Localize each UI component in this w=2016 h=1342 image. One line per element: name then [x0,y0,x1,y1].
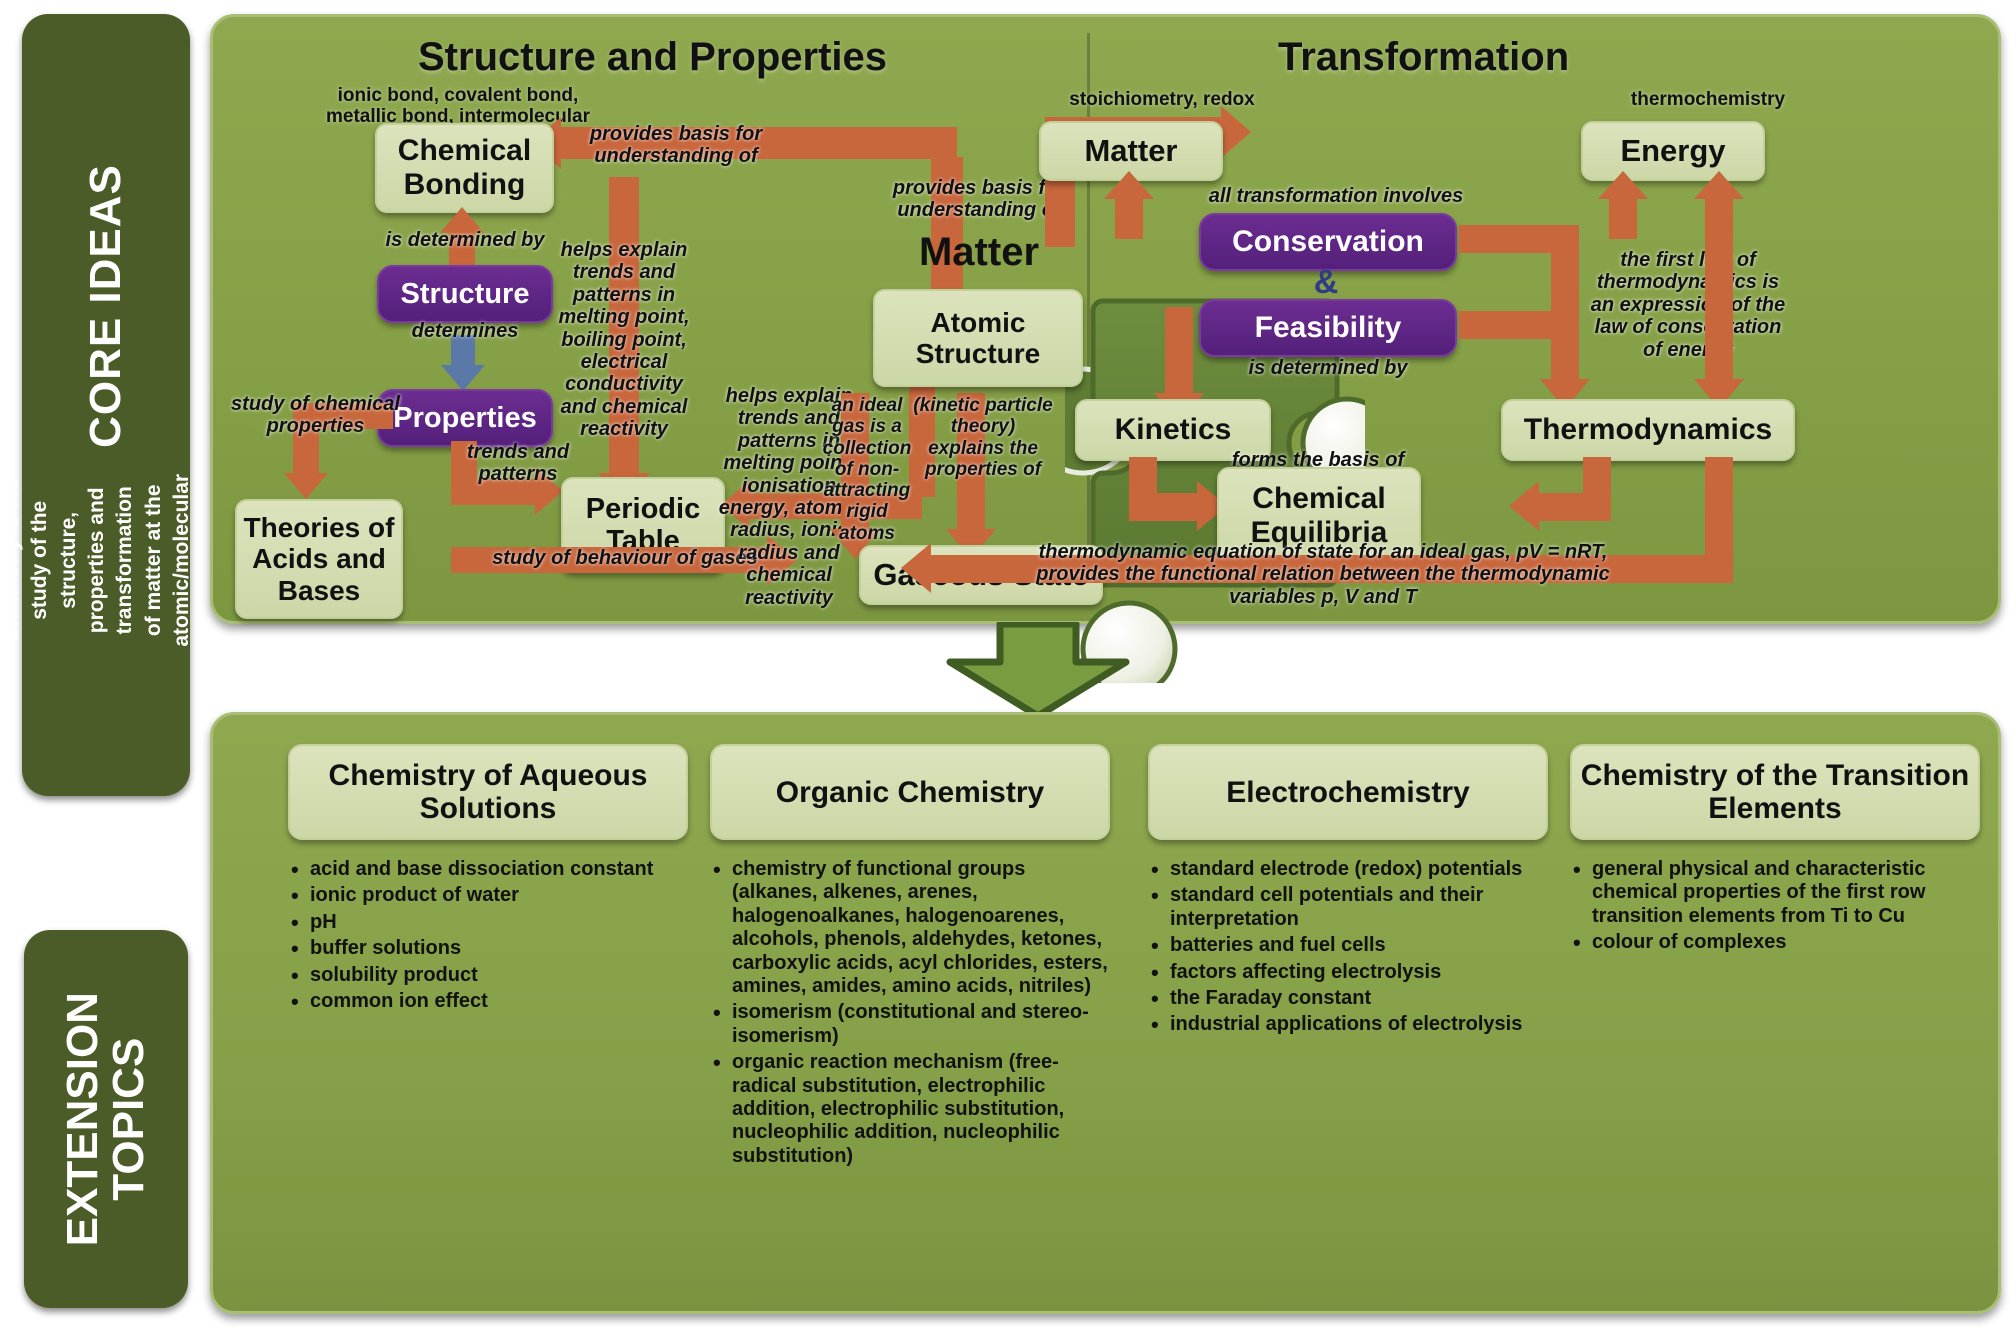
extension-topics-title-line2: TOPICS [104,1038,153,1201]
extension-column-title[interactable]: Electrochemistry [1148,744,1548,840]
arrow-thermo-eq-state-down [1705,457,1733,555]
extension-item-list: general physical and characteristic chem… [1570,858,1980,955]
section-title-structure-properties: Structure and Properties [418,35,887,80]
list-item: buffer solutions [288,937,688,960]
edge-label-ideal-gas: an ideal gas is a collection of non-attr… [817,395,917,544]
node-thermodynamics[interactable]: Thermodynamics [1501,399,1795,461]
arrow-thermo-eq-state-head [901,543,931,593]
extension-column-title[interactable]: Chemistry of Aqueous Solutions [288,744,688,840]
list-item: factors affecting electrolysis [1148,961,1548,984]
extension-column-transition-elements: Chemistry of the Transition Elements gen… [1570,744,1980,958]
extension-column-electrochemistry: Electrochemistry standard electrode (red… [1148,744,1548,1040]
edge-label-is-determined-by-feasibility: is determined by [1203,357,1453,379]
edge-label-study-of-chemical-properties: study of chemical properties [208,393,423,438]
arrow-to-energy-up-left-shaft [1609,197,1637,239]
list-item: the Faraday constant [1148,987,1548,1010]
edge-label-thermodynamic-equation: thermodynamic equation of state for an i… [1023,541,1623,608]
extension-column-aqueous-solutions: Chemistry of Aqueous Solutions acid and … [288,744,688,1016]
arrow-to-kinetics-shaft [1165,307,1193,397]
node-theories-of-acids-and-bases[interactable]: Theories of Acids and Bases [235,499,403,619]
arrow-thermo-eq-left [1539,493,1611,521]
arrow-to-energy-up-right-head [1694,171,1744,199]
section-title-transformation: Transformation [1278,35,1569,80]
extension-column-organic-chemistry: Organic Chemistry chemistry of functiona… [710,744,1110,1171]
node-ampersand: & [1199,263,1453,302]
arrow-kinetics-eq-right [1129,493,1201,521]
node-structure[interactable]: Structure [377,265,553,323]
node-atomic-structure[interactable]: Atomic Structure [873,289,1083,387]
arrow-determines-head [441,365,485,391]
list-item: ionic product of water [288,884,688,907]
edge-label-first-law: the first law of thermodynamics is an ex… [1583,249,1793,361]
extension-item-list: acid and base dissociation constant ioni… [288,858,688,1013]
list-item: chemistry of functional groups (alkanes,… [710,858,1110,998]
arrow-to-matter-up-head [1104,171,1154,199]
edge-label-is-determined-by-structure: is determined by [365,229,565,251]
edge-label-all-transformation-involves: all transformation involves [1171,185,1501,207]
section-transition-arrow [938,622,1138,718]
list-item: colour of complexes [1570,931,1980,954]
arrow-thermo-eq-head [1509,481,1539,531]
arrow-to-matter-up-shaft [1115,197,1143,239]
extension-column-title[interactable]: Organic Chemistry [710,744,1110,840]
list-item: organic reaction mechanism (free-radical… [710,1051,1110,1168]
extension-topics-sidebar: EXTENSION TOPICS [24,930,188,1308]
arrow-to-energy-up-left-head [1598,171,1648,199]
edge-label-kinetic-particle-theory: (kinetic particle theory) explains the p… [913,395,1053,480]
core-ideas-sidebar: CORE IDEAS Chemistry is the study of the… [22,14,190,796]
list-item: isomerism (constitutional and stereo-iso… [710,1001,1110,1048]
arrow-centre-to-matter-head [1221,106,1251,158]
edge-label-provides-basis-centre: provides basis for understanding of [889,177,1069,222]
annotation-energy-topics: thermochemistry [1583,89,1833,110]
annotation-matter-topics: stoichiometry, redox [1037,89,1287,110]
core-ideas-title: CORE IDEAS [81,164,131,448]
arrow-study-chem-props-head [284,473,328,499]
extension-column-title[interactable]: Chemistry of the Transition Elements [1570,744,1980,840]
extension-item-list: chemistry of functional groups (alkanes,… [710,858,1110,1168]
core-ideas-panel: Structure and Properties Transformation … [210,14,2001,624]
list-item: pH [288,911,688,934]
core-ideas-subtitle: Chemistry is the study of the structure,… [0,474,224,647]
list-item: batteries and fuel cells [1148,934,1548,957]
arrow-right-vertical-1 [1551,225,1579,385]
list-item: industrial applications of electrolysis [1148,1013,1548,1036]
list-item: standard electrode (redox) potentials [1148,858,1548,881]
list-item: common ion effect [288,990,688,1013]
node-feasibility[interactable]: Feasibility [1199,299,1457,357]
list-item: acid and base dissociation constant [288,858,688,881]
green-arrow-svg [938,622,1138,718]
extension-item-list: standard electrode (redox) potentials st… [1148,858,1548,1037]
edge-label-provides-basis-left: provides basis for understanding of [531,123,821,168]
extension-topics-title-line1: EXTENSION [58,992,107,1246]
list-item: solubility product [288,964,688,987]
list-item: general physical and characteristic chem… [1570,858,1980,928]
edge-label-helps-explain-bonding: helps explain trends and patterns in mel… [549,239,699,441]
edge-label-determines: determines [375,320,555,342]
node-chemical-bonding[interactable]: Chemical Bonding [375,123,554,213]
list-item: standard cell potentials and their inter… [1148,884,1548,931]
arrow-right-vertical-2 [1705,225,1733,385]
